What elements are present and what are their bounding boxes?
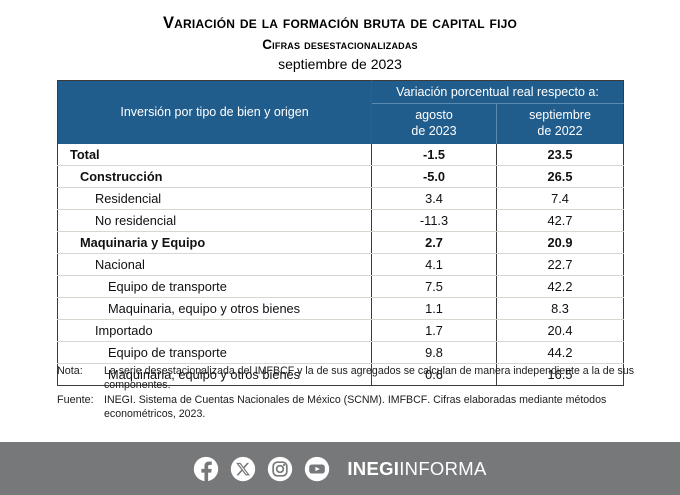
row-value-agosto-2023: 1.7 bbox=[372, 320, 497, 342]
table-notes: Nota: La serie desestacionalizada del IM… bbox=[57, 364, 637, 422]
col1-header-line2: de 2023 bbox=[411, 124, 456, 138]
youtube-icon[interactable] bbox=[304, 456, 330, 482]
table-row: Equipo de transporte9.844.2 bbox=[58, 342, 624, 364]
row-value-septiembre-2022: 26.5 bbox=[497, 166, 624, 188]
table-body: Total-1.523.5Construcción-5.026.5Residen… bbox=[58, 144, 624, 386]
row-value-septiembre-2022: 8.3 bbox=[497, 298, 624, 320]
row-label: No residencial bbox=[58, 210, 372, 232]
row-label-text: Construcción bbox=[58, 169, 162, 184]
note-line: Nota: La serie desestacionalizada del IM… bbox=[57, 364, 637, 392]
column-header-label: Inversión por tipo de bien y origen bbox=[58, 81, 372, 145]
page-title-block: Variación de la formación bruta de capit… bbox=[0, 0, 680, 73]
col2-header-line2: de 2022 bbox=[537, 124, 582, 138]
table-row: Nacional4.122.7 bbox=[58, 254, 624, 276]
brand-inegi: INEGI bbox=[347, 458, 399, 479]
footer-bar: INEGIINFORMA bbox=[0, 442, 680, 495]
row-label-text: Equipo de transporte bbox=[58, 345, 227, 360]
table-row: Total-1.523.5 bbox=[58, 144, 624, 166]
row-value-septiembre-2022: 23.5 bbox=[497, 144, 624, 166]
source-line: Fuente: INEGI. Sistema de Cuentas Nacion… bbox=[57, 393, 637, 421]
row-label: Construcción bbox=[58, 166, 372, 188]
row-value-septiembre-2022: 7.4 bbox=[497, 188, 624, 210]
row-value-agosto-2023: -11.3 bbox=[372, 210, 497, 232]
brand-informa: INFORMA bbox=[399, 458, 486, 479]
data-table-container: Inversión por tipo de bien y origen Vari… bbox=[57, 80, 623, 386]
row-value-agosto-2023: 1.1 bbox=[372, 298, 497, 320]
row-value-septiembre-2022: 44.2 bbox=[497, 342, 624, 364]
row-value-agosto-2023: 7.5 bbox=[372, 276, 497, 298]
table-row: Importado1.720.4 bbox=[58, 320, 624, 342]
row-value-septiembre-2022: 22.7 bbox=[497, 254, 624, 276]
table-row: No residencial-11.342.7 bbox=[58, 210, 624, 232]
table-row: Maquinaria, equipo y otros bienes1.18.3 bbox=[58, 298, 624, 320]
row-label: Equipo de transporte bbox=[58, 342, 372, 364]
col1-header-line1: agosto bbox=[415, 108, 453, 122]
inegi-informa-logo: INEGIINFORMA bbox=[347, 458, 486, 480]
column-header-agosto-2023: agosto de 2023 bbox=[372, 104, 497, 145]
row-label-text: Maquinaria, equipo y otros bienes bbox=[58, 301, 300, 316]
row-value-agosto-2023: 9.8 bbox=[372, 342, 497, 364]
source-text: INEGI. Sistema de Cuentas Nacionales de … bbox=[104, 393, 637, 421]
investment-table: Inversión por tipo de bien y origen Vari… bbox=[57, 80, 624, 386]
table-row: Residencial3.47.4 bbox=[58, 188, 624, 210]
table-row: Construcción-5.026.5 bbox=[58, 166, 624, 188]
row-label-text: Equipo de transporte bbox=[58, 279, 227, 294]
row-label-text: Total bbox=[58, 147, 100, 162]
row-label: Maquinaria, equipo y otros bienes bbox=[58, 298, 372, 320]
instagram-icon[interactable] bbox=[267, 456, 293, 482]
row-label-text: Importado bbox=[58, 323, 153, 338]
row-value-septiembre-2022: 42.2 bbox=[497, 276, 624, 298]
row-value-agosto-2023: -1.5 bbox=[372, 144, 497, 166]
source-acronym-imfbcf: IMFBCF bbox=[388, 394, 427, 406]
row-value-septiembre-2022: 20.4 bbox=[497, 320, 624, 342]
row-label: Residencial bbox=[58, 188, 372, 210]
source-label: Fuente: bbox=[57, 393, 104, 407]
table-header: Inversión por tipo de bien y origen Vari… bbox=[58, 81, 624, 145]
page-date: septiembre de 2023 bbox=[0, 55, 680, 73]
table-row: Equipo de transporte7.542.2 bbox=[58, 276, 624, 298]
source-text-b: ). bbox=[378, 394, 387, 406]
note-label: Nota: bbox=[57, 364, 104, 378]
row-value-agosto-2023: -5.0 bbox=[372, 166, 497, 188]
row-label-text: No residencial bbox=[58, 213, 176, 228]
note-acronym-imfbcf: IMFBCF bbox=[255, 365, 294, 377]
row-label: Importado bbox=[58, 320, 372, 342]
source-text-a: . Sistema de Cuentas Nacionales de Méxic… bbox=[133, 394, 347, 406]
row-value-agosto-2023: 3.4 bbox=[372, 188, 497, 210]
row-value-agosto-2023: 2.7 bbox=[372, 232, 497, 254]
page-title: Variación de la formación bruta de capit… bbox=[0, 13, 680, 34]
row-value-septiembre-2022: 42.7 bbox=[497, 210, 624, 232]
note-text-a: La serie desestacionalizada del bbox=[104, 365, 255, 377]
column-header-septiembre-2022: septiembre de 2022 bbox=[497, 104, 624, 145]
row-label: Total bbox=[58, 144, 372, 166]
column-header-group: Variación porcentual real respecto a: bbox=[372, 81, 624, 104]
row-label-text: Nacional bbox=[58, 257, 145, 272]
row-label: Equipo de transporte bbox=[58, 276, 372, 298]
page-subtitle: Cifras desestacionalizadas bbox=[0, 36, 680, 54]
note-text: La serie desestacionalizada del IMFBCF y… bbox=[104, 364, 637, 392]
x-twitter-icon[interactable] bbox=[230, 456, 256, 482]
row-label: Maquinaria y Equipo bbox=[58, 232, 372, 254]
source-acronym-scnm: SCNM bbox=[347, 394, 378, 406]
row-value-agosto-2023: 4.1 bbox=[372, 254, 497, 276]
row-label-text: Maquinaria y Equipo bbox=[58, 235, 205, 250]
col2-header-line1: septiembre bbox=[529, 108, 591, 122]
row-label: Nacional bbox=[58, 254, 372, 276]
facebook-icon[interactable] bbox=[193, 456, 219, 482]
table-row: Maquinaria y Equipo2.720.9 bbox=[58, 232, 624, 254]
source-acronym-inegi: INEGI bbox=[104, 394, 133, 406]
row-value-septiembre-2022: 20.9 bbox=[497, 232, 624, 254]
row-label-text: Residencial bbox=[58, 191, 161, 206]
